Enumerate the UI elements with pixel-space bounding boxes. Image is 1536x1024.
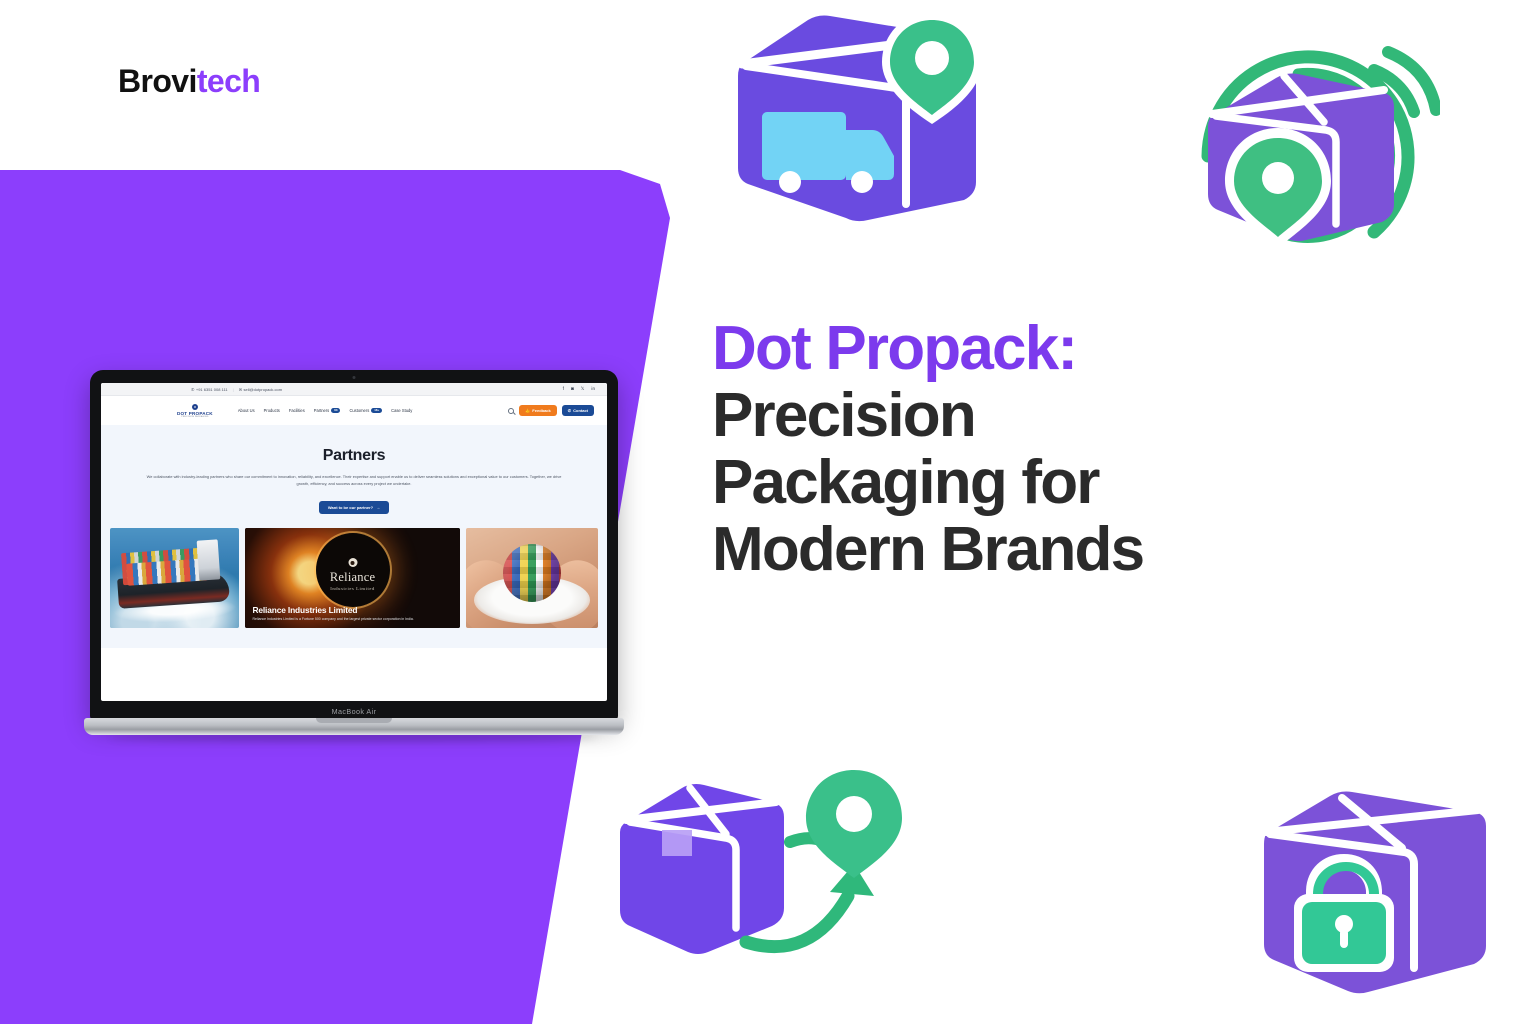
partner-card-global-flags[interactable] [466,528,598,628]
brand-logo-part1: Brovi [118,63,197,99]
headline-line-3: Packaging for [712,450,1352,517]
topbar-separator: | [233,387,234,392]
feedback-button[interactable]: 👍 Feedback [519,405,556,416]
site-topbar: ✆ +91 6351 008 111 | ✉ sell@dotpropack.c… [101,383,607,396]
reliance-card-title: Reliance Industries Limited [252,605,452,615]
reliance-logo-word: Reliance [330,570,375,585]
container-ship-image [110,528,239,628]
facebook-icon[interactable]: f [563,386,564,392]
reliance-logo-mark-icon [348,558,357,567]
delivery-truck-box-pin-icon [712,6,994,232]
nav-item-products[interactable]: Products [264,408,280,413]
laptop-screen: ✆ +91 6351 008 111 | ✉ sell@dotpropack.c… [101,383,607,701]
topbar-phone[interactable]: ✆ +91 6351 008 111 [191,387,228,392]
laptop-model-label: MacBook Air [90,707,618,716]
phone-icon: ✆ [191,387,194,392]
phone-call-icon: ✆ [568,408,571,413]
laptop-base-notch [316,718,392,723]
partners-description: We collaborate with industry-leading par… [146,473,562,487]
linkedin-icon[interactable]: in [591,386,595,392]
package-tracking-circle-icon [1178,26,1440,288]
site-nav-links: About Us Products Facilities Partners 63… [238,408,413,413]
site-nav-actions: 👍 Feedback ✆ Contact [508,405,594,416]
contact-button-label: Contact [573,408,588,413]
site-logo[interactable]: DOT PROPACK PRECISION PACKAGING [177,404,213,418]
headline-line-4: Modern Brands [712,517,1352,584]
partners-hero-section: Partners We collaborate with industry-le… [101,425,607,528]
envelope-icon: ✉ [239,387,242,392]
laptop-base [84,718,624,735]
become-partner-button-label: Want to be our partner? [328,505,373,510]
nav-item-customers-label: Customers [349,408,369,413]
reliance-card-description: Reliance Industries Limited is a Fortune… [252,617,452,622]
nav-item-products-label: Products [264,408,280,413]
flags-globe [503,544,561,602]
arrow-right-icon: → [376,505,380,510]
nav-item-facilities-label: Facilities [289,408,305,413]
nav-item-partners[interactable]: Partners 63 [314,408,341,413]
feedback-button-label: Feedback [532,408,550,413]
become-partner-button[interactable]: Want to be our partner? → [319,501,389,514]
brand-logo-part2: tech [197,63,260,99]
secure-package-lock-icon [1246,782,1508,1008]
thumbs-up-icon: 👍 [525,408,530,413]
laptop-mockup: ✆ +91 6351 008 111 | ✉ sell@dotpropack.c… [84,370,624,746]
reliance-logo-subtext: Industries Limited [330,586,375,591]
nav-item-about-us-label: About Us [238,408,255,413]
topbar-email[interactable]: ✉ sell@dotpropack.com [239,387,282,392]
reliance-card-caption: Reliance Industries Limited Reliance Ind… [252,605,452,623]
ship-bridge-tower [197,540,220,581]
search-icon[interactable] [508,408,514,414]
twitter-x-icon[interactable]: 𝕏 [581,386,585,392]
headline-line-1: Dot Propack: [712,316,1352,383]
topbar-phone-text: +91 6351 008 111 [196,387,228,392]
dot-propack-mark-icon [192,404,198,410]
site-footer-space [101,648,607,674]
partner-card-container-ship[interactable] [110,528,239,628]
nav-item-case-study-label: Case Study [391,408,412,413]
headline-line-2: Precision [712,383,1352,450]
nav-item-case-study[interactable]: Case Study [391,408,412,413]
nav-item-partners-badge: 63 [331,408,340,413]
laptop-base-shadow [110,734,598,741]
topbar-email-text: sell@dotpropack.com [244,387,283,392]
instagram-icon[interactable]: ◙ [571,386,574,392]
nav-item-facilities[interactable]: Facilities [289,408,305,413]
package-route-arrow-pin-icon [604,766,904,982]
nav-item-customers-badge: 18+ [371,408,382,413]
site-navbar: DOT PROPACK PRECISION PACKAGING About Us… [101,396,607,425]
contact-button[interactable]: ✆ Contact [562,405,594,416]
partner-card-reliance[interactable]: Reliance Industries Limited Reliance Ind… [245,528,459,628]
headline-block: Dot Propack: Precision Packaging for Mod… [712,316,1352,584]
site-logo-tagline: PRECISION PACKAGING [181,416,208,418]
nav-item-about-us[interactable]: About Us [238,408,255,413]
nav-item-customers[interactable]: Customers 18+ [349,408,382,413]
partners-page-title: Partners [119,447,589,465]
laptop-camera-icon [353,376,356,379]
laptop-lid: ✆ +91 6351 008 111 | ✉ sell@dotpropack.c… [90,370,618,720]
global-flags-globe-image [466,528,598,628]
reliance-card-image: Reliance Industries Limited Reliance Ind… [245,528,459,628]
brand-logo: Brovitech [118,63,260,100]
partner-cards-row: Reliance Industries Limited Reliance Ind… [101,528,607,648]
nav-item-partners-label: Partners [314,408,329,413]
